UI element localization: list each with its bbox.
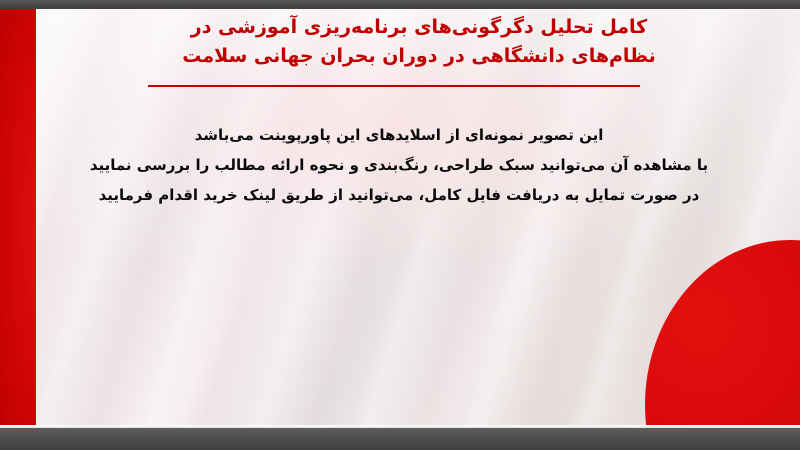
body-line-1: این تصویر نمونه‌ای از اسلایدهای این پاور… bbox=[60, 120, 738, 150]
slide-title: کامل تحلیل دگرگونی‌های برنامه‌ریزی آموزش… bbox=[58, 13, 780, 71]
body-line-3: در صورت تمایل به دریافت فایل کامل، می‌تو… bbox=[60, 180, 738, 210]
body-line-2: با مشاهده آن می‌توانید سبک طراحی، رنگ‌بن… bbox=[60, 150, 738, 180]
slide-title-line-2: نظام‌های دانشگاهی در دوران بحران جهانی س… bbox=[58, 42, 780, 71]
slide-title-line-1: کامل تحلیل دگرگونی‌های برنامه‌ریزی آموزش… bbox=[58, 13, 780, 42]
bottom-gray-bar bbox=[0, 428, 800, 450]
title-underline-rule bbox=[148, 85, 640, 87]
presentation-slide: کامل تحلیل دگرگونی‌های برنامه‌ریزی آموزش… bbox=[0, 0, 800, 450]
slide-body-text: این تصویر نمونه‌ای از اسلایدهای این پاور… bbox=[60, 120, 738, 210]
top-gray-bar bbox=[0, 0, 800, 9]
left-oval-clip bbox=[0, 6, 90, 444]
